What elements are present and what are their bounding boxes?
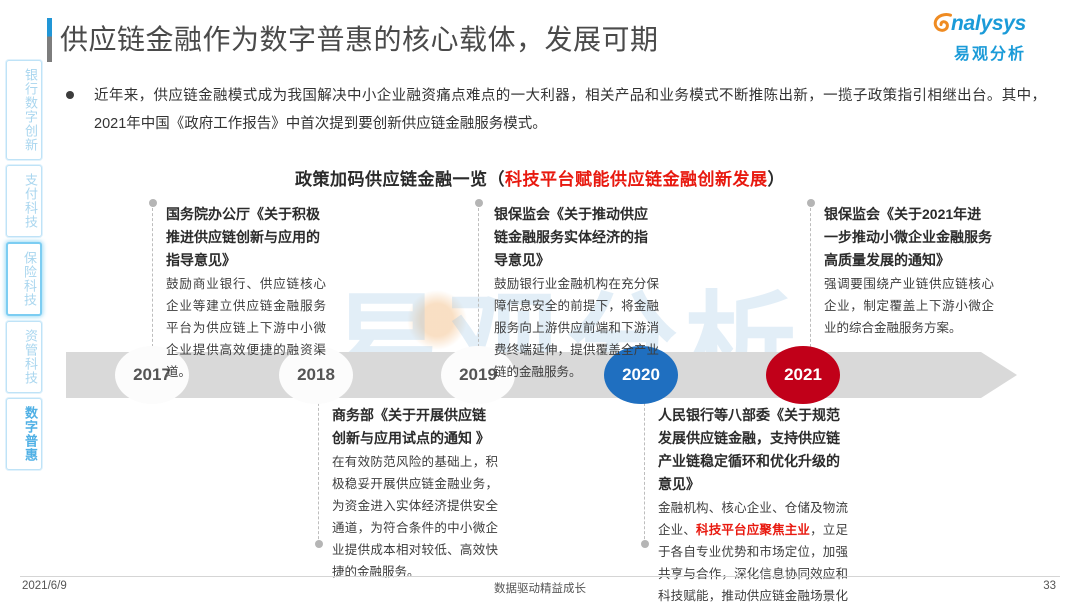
bullet-text: 近年来，供应链金融模式成为我国解决中小企业融资痛点难点的一大利器，相关产品和业务… [94,82,1046,138]
connector-2018 [318,398,319,544]
footer-divider [20,576,1060,577]
connector-dot-2018 [315,540,323,548]
policy-card-2021: 银保监会《关于2021年进一步推动小微企业金融服务高质量发展的通知》 强调要围绕… [824,203,994,339]
policy-card-2017-title: 国务院办公厅《关于积极推进供应链创新与应用的指导意见》 [166,203,326,272]
connector-2021 [810,203,811,352]
policy-card-2021-body: 强调要围绕产业链供应链核心企业，制定覆盖上下游小微企业的综合金融服务方案。 [824,273,994,339]
policy-card-2020-body-highlight: 科技平台应聚焦主业 [696,523,810,537]
footer-tagline: 数据驱动精益成长 [0,580,1080,596]
policy-card-2019-title: 银保监会《关于推动供应链金融服务实体经济的指导意见》 [494,203,659,272]
sidebar-item-digital-inclusive-finance[interactable]: 数字普惠 [6,398,42,470]
page-title: 供应链金融作为数字普惠的核心载体，发展可期 [60,18,659,62]
chart-title-main: 政策加码供应链金融一览（ [295,170,505,189]
timeline-arrow-head [981,352,1017,398]
policy-card-2020: 人民银行等八部委《关于规范发展供应链金融，支持供应链产业链稳定循环和优化升级的意… [658,404,848,608]
policy-card-2020-title: 人民银行等八部委《关于规范发展供应链金融，支持供应链产业链稳定循环和优化升级的意… [658,404,848,496]
connector-2017 [152,203,153,352]
connector-dot-2020 [641,540,649,548]
policy-card-2021-title: 银保监会《关于2021年进一步推动小微企业金融服务高质量发展的通知》 [824,203,994,272]
bullet-row: 近年来，供应链金融模式成为我国解决中小企业融资痛点难点的一大利器，相关产品和业务… [66,82,1046,138]
connector-dot-2021 [807,199,815,207]
footer-page-number: 33 [1043,580,1056,592]
policy-card-2019: 银保监会《关于推动供应链金融服务实体经济的指导意见》 鼓励银行业金融机构在充分保… [494,203,659,383]
connector-dot-2017 [149,199,157,207]
slide-root: 易观分析 供应链金融作为数字普惠的核心载体，发展可期 nalysys 易观分析 … [0,0,1080,608]
connector-dot-2019 [475,199,483,207]
analysys-logo: nalysys 易观分析 [930,12,1050,62]
sidebar-item-asset-management-tech[interactable]: 资管科技 [6,321,42,393]
logo-chinese-name: 易观分析 [930,40,1050,64]
sidebar-item-insurance-tech[interactable]: 保险科技 [6,242,42,316]
bullet-dot-icon [66,91,74,99]
policy-card-2017-body: 鼓励商业银行、供应链核心企业等建立供应链金融服务平台为供应链上下游中小微企业提供… [166,273,326,383]
sidebar-tabs: 银行数字创新 支付科技 保险科技 资管科技 数字普惠 [6,60,42,475]
connector-2020 [644,398,645,544]
sidebar-item-payment-tech[interactable]: 支付科技 [6,165,42,237]
connector-2019 [478,203,479,352]
title-accent-bar [47,18,52,62]
chart-title: 政策加码供应链金融一览（科技平台赋能供应链金融创新发展） [0,165,1080,190]
chart-title-tail: ） [768,170,786,189]
policy-card-2019-body: 鼓励银行业金融机构在充分保障信息安全的前提下，将金融服务向上游供应前端和下游消费… [494,273,659,383]
watermark-mark [405,288,469,352]
policy-card-2017: 国务院办公厅《关于积极推进供应链创新与应用的指导意见》 鼓励商业银行、供应链核心… [166,203,326,383]
logo-wordmark: nalysys [951,13,1026,35]
chart-title-highlight: 科技平台赋能供应链金融创新发展 [505,170,768,189]
policy-card-2018-body: 在有效防范风险的基础上，积极稳妥开展供应链金融业务，为资金进入实体经济提供安全通… [332,451,498,583]
policy-card-2018-title: 商务部《关于开展供应链创新与应用试点的通知 》 [332,404,498,450]
timeline-year-2021[interactable]: 2021 [766,346,840,404]
sidebar-item-bank-digital-innovation[interactable]: 银行数字创新 [6,60,42,160]
policy-card-2018: 商务部《关于开展供应链创新与应用试点的通知 》 在有效防范风险的基础上，积极稳妥… [332,404,498,583]
